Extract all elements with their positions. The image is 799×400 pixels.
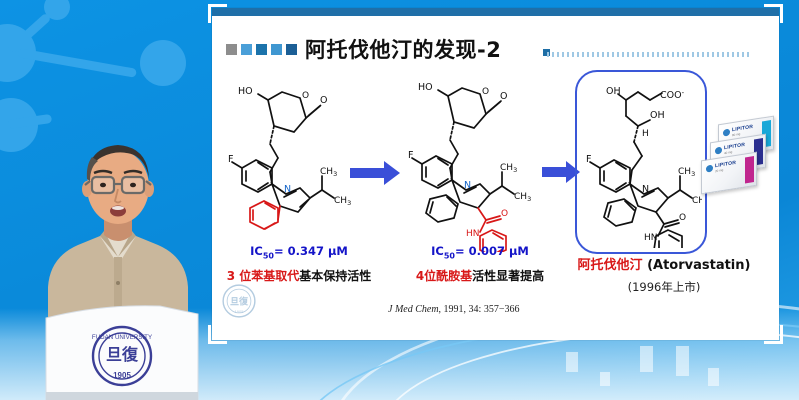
title-square bbox=[286, 44, 297, 55]
caption-1: IC50= 0.347 μM 3 位苯基取代基本保持活性 bbox=[224, 244, 374, 284]
svg-text:COO-: COO- bbox=[660, 89, 685, 101]
lipitor-logo-icon bbox=[706, 165, 713, 173]
podium: FUDAN UNIVERSITY 旦復 1905 bbox=[40, 300, 210, 400]
structure-2: HO O O F N CH3 CH3 O HN bbox=[400, 66, 560, 252]
atom-label-ho: HO bbox=[238, 86, 253, 97]
slide-title-row: 阿托伐他汀的发现-2 bbox=[226, 34, 501, 64]
lipitor-accent-strip bbox=[745, 156, 754, 183]
atom-label-f: F bbox=[408, 150, 413, 161]
title-square bbox=[256, 44, 267, 55]
drug-name-en: (Atorvastatin) bbox=[647, 258, 750, 273]
title-square bbox=[226, 44, 237, 55]
svg-text:旦復: 旦復 bbox=[230, 295, 249, 307]
drug-launch-year: (1996年上市) bbox=[564, 279, 764, 295]
lipitor-dose: 40 mg bbox=[724, 150, 732, 155]
atom-label-oh-2: OH bbox=[650, 110, 665, 121]
atom-label-o: O bbox=[320, 95, 327, 106]
screen: FUDAN UNIVERSITY 旦復 1905 阿托伐他汀的发现-2 bbox=[0, 0, 799, 400]
lipitor-logo-icon bbox=[715, 147, 722, 155]
svg-text:CH3: CH3 bbox=[692, 196, 702, 207]
podium-seal-top: FUDAN UNIVERSITY bbox=[92, 334, 152, 341]
svg-text:旦復: 旦復 bbox=[106, 345, 139, 364]
atom-label-f: F bbox=[586, 154, 591, 165]
caption-3: 阿托伐他汀 (Atorvastatin) (1996年上市) bbox=[564, 254, 764, 295]
atom-label-ho: HO bbox=[418, 82, 433, 93]
note-1-red: 3 位苯基取代 bbox=[227, 269, 300, 283]
note-1-black: 基本保持活性 bbox=[299, 269, 371, 283]
drug-name-cn: 阿托伐他汀 bbox=[578, 258, 643, 273]
ic50-value-1: IC50= 0.347 μM bbox=[224, 244, 374, 260]
presentation-slide: 阿托伐他汀的发现-2 bbox=[212, 8, 779, 340]
caption-2: IC50= 0.007 μM 4位酰胺基活性显著提高 bbox=[404, 244, 556, 284]
svg-text:CH3: CH3 bbox=[500, 163, 517, 174]
atom-label-n: N bbox=[284, 184, 291, 195]
arrow-right-1 bbox=[350, 160, 402, 186]
citation-detail: , 1991, 34: 357−366 bbox=[439, 304, 520, 315]
atom-label-f: F bbox=[228, 154, 233, 165]
svg-text:O: O bbox=[482, 87, 489, 97]
citation: J Med Chem, 1991, 34: 357−366 bbox=[388, 304, 519, 315]
footer-rect bbox=[600, 372, 610, 386]
svg-text:O: O bbox=[679, 213, 686, 223]
svg-text:O: O bbox=[302, 91, 309, 101]
svg-text:CH3: CH3 bbox=[514, 192, 531, 203]
atom-label-oh-1: OH bbox=[606, 86, 621, 97]
footer-rect bbox=[676, 346, 689, 376]
citation-journal: J Med Chem bbox=[388, 304, 439, 315]
page-title: 阿托伐他汀的发现-2 bbox=[305, 34, 501, 64]
lipitor-logo-icon bbox=[723, 129, 730, 137]
note-2: 4位酰胺基活性显著提高 bbox=[404, 267, 556, 284]
ic50-value-2: IC50= 0.007 μM bbox=[404, 244, 556, 260]
lipitor-box-20mg: LIPITOR 20 mg bbox=[701, 152, 757, 195]
svg-text:CH3: CH3 bbox=[320, 167, 337, 178]
title-dotted-rule bbox=[547, 52, 752, 57]
drug-name: 阿托伐他汀 (Atorvastatin) bbox=[564, 254, 764, 273]
corner-bracket-top-left bbox=[208, 4, 227, 23]
note-2-black: 活性显著提高 bbox=[472, 269, 544, 283]
structure-1: HO O O F N CH3 CH3 bbox=[220, 70, 370, 242]
title-square bbox=[241, 44, 252, 55]
atom-label-h: H bbox=[642, 129, 649, 139]
title-square-group bbox=[226, 44, 297, 55]
watermark-year: 1905 bbox=[235, 309, 245, 314]
slide-top-border bbox=[212, 8, 779, 16]
lipitor-dose: 20 mg bbox=[715, 168, 723, 173]
mol-node bbox=[140, 40, 186, 86]
fudan-watermark-seal: 旦復 1905 bbox=[222, 284, 256, 318]
atom-label-n: N bbox=[464, 180, 471, 191]
note-1: 3 位苯基取代基本保持活性 bbox=[224, 267, 374, 284]
corner-bracket-bottom-right bbox=[764, 325, 783, 344]
structure-3: OH COO- OH H F N CH3 CH3 O HN bbox=[580, 74, 702, 248]
note-2-red: 4位酰胺基 bbox=[416, 269, 472, 283]
footer-rect bbox=[566, 352, 578, 372]
corner-bracket-top-right bbox=[764, 4, 783, 23]
title-square bbox=[271, 44, 282, 55]
atom-label-hn: HN bbox=[466, 229, 480, 239]
svg-text:CH3: CH3 bbox=[678, 167, 695, 178]
svg-text:CH3: CH3 bbox=[334, 196, 351, 207]
podium-seal-year: 1905 bbox=[113, 371, 131, 380]
atom-label-n: N bbox=[642, 184, 649, 195]
svg-text:O: O bbox=[501, 209, 508, 219]
footer-rect bbox=[708, 368, 719, 386]
atom-label-hn: HN bbox=[644, 233, 658, 243]
footer-rect bbox=[640, 346, 653, 372]
corner-bracket-bottom-left bbox=[208, 325, 227, 344]
svg-text:O: O bbox=[500, 91, 507, 102]
lipitor-dose: 80 mg bbox=[732, 132, 740, 137]
